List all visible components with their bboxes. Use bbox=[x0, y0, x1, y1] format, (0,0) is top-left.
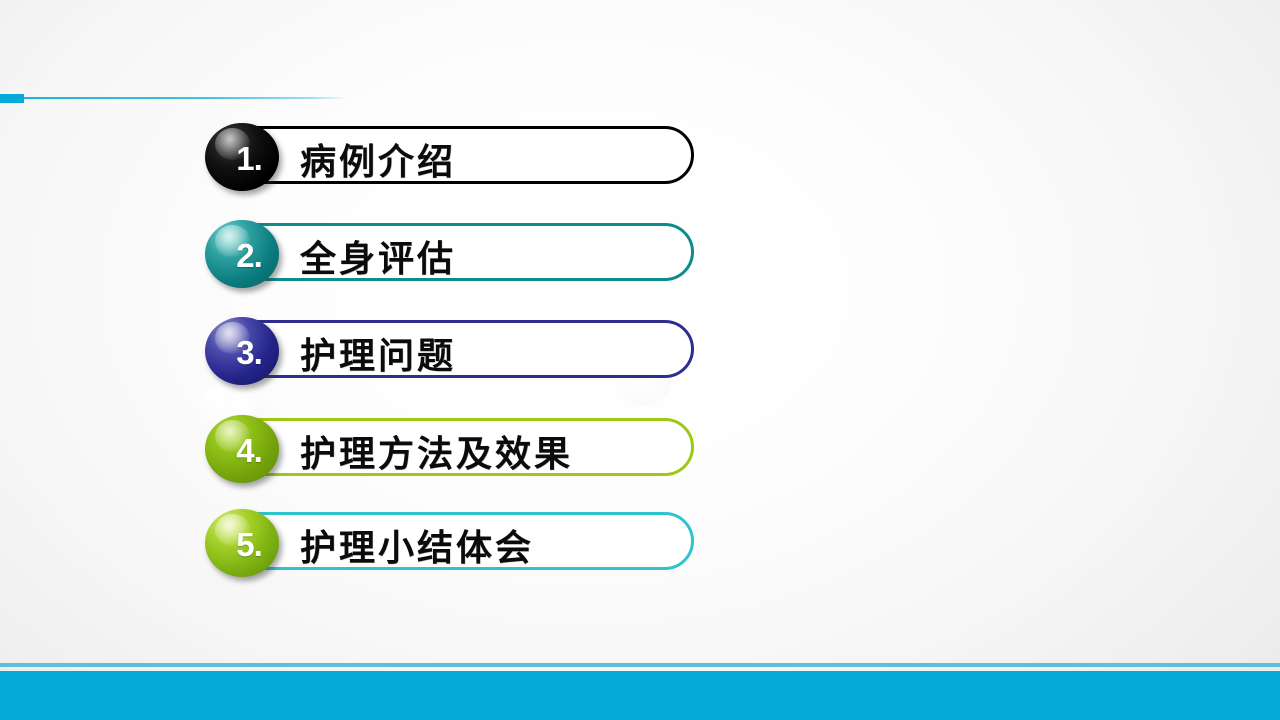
agenda-item-3[interactable]: 护理问题 3. bbox=[205, 317, 705, 383]
agenda-item-2[interactable]: 全身评估 2. bbox=[205, 220, 705, 286]
accent-line bbox=[24, 97, 348, 99]
footer-bar bbox=[0, 671, 1280, 720]
footer-thin-bar bbox=[0, 663, 1280, 667]
accent-tick bbox=[0, 94, 24, 103]
agenda-item-4[interactable]: 护理方法及效果 4. bbox=[205, 415, 705, 481]
agenda-item-5[interactable]: 护理小结体会 5. bbox=[205, 509, 705, 575]
agenda-badge-4: 4. bbox=[205, 415, 279, 483]
agenda-number-4: 4. bbox=[205, 415, 279, 483]
top-accent-rule bbox=[0, 94, 348, 103]
agenda-number-5: 5. bbox=[205, 509, 279, 577]
agenda-label-1: 病例介绍 bbox=[300, 130, 456, 188]
agenda-item-1[interactable]: 病例介绍 1. bbox=[205, 123, 705, 189]
agenda-number-2: 2. bbox=[205, 220, 279, 288]
agenda-badge-5: 5. bbox=[205, 509, 279, 577]
agenda-label-5: 护理小结体会 bbox=[300, 516, 534, 574]
agenda-list: 病例介绍 1. 全身评估 2. 护理问题 3. 护理方法及效果 bbox=[205, 123, 705, 573]
agenda-label-2: 全身评估 bbox=[300, 227, 456, 285]
agenda-label-3: 护理问题 bbox=[300, 324, 456, 382]
agenda-number-1: 1. bbox=[205, 123, 279, 191]
agenda-badge-3: 3. bbox=[205, 317, 279, 385]
agenda-number-3: 3. bbox=[205, 317, 279, 385]
slide-canvas: 病例介绍 1. 全身评估 2. 护理问题 3. 护理方法及效果 bbox=[0, 0, 1280, 720]
agenda-badge-1: 1. bbox=[205, 123, 279, 191]
agenda-badge-2: 2. bbox=[205, 220, 279, 288]
agenda-label-4: 护理方法及效果 bbox=[300, 422, 573, 480]
